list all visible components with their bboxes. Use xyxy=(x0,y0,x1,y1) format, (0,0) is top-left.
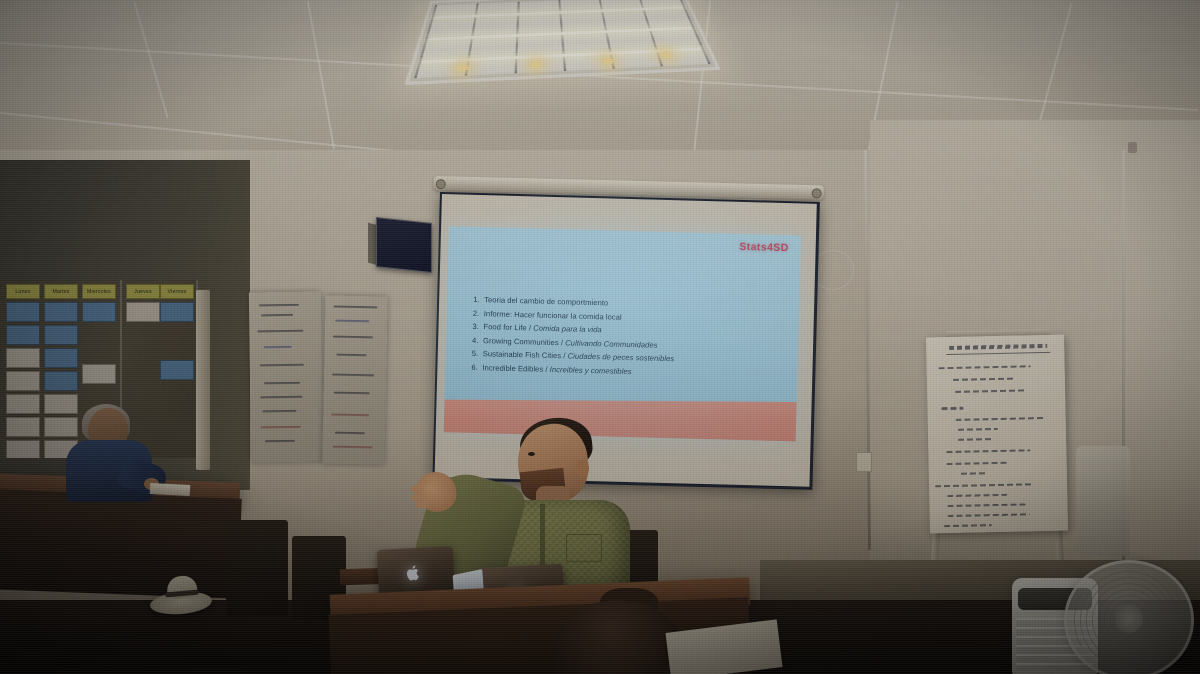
schedule-column-martes: Martes xyxy=(44,284,78,458)
day-header-jueves: Jueves xyxy=(126,284,160,299)
slide-item-text: Growing Communities / xyxy=(483,336,565,347)
pedestal-fan[interactable] xyxy=(1064,560,1194,674)
slide-item-text-es: Ciudades de peces sostenibles xyxy=(568,352,675,364)
schedule-note xyxy=(6,440,40,458)
schedule-note xyxy=(6,394,40,414)
schedule-note xyxy=(160,360,194,380)
schedule-note xyxy=(126,302,160,322)
schedule-note xyxy=(6,348,40,368)
slide-item-text: Incredible Edibles / xyxy=(482,363,550,374)
schedule-column-lunes: Lunes xyxy=(6,284,40,458)
wall-outlet-plate xyxy=(856,452,872,472)
schedule-note xyxy=(82,364,116,384)
slide-item-text-es: Increibles y comestibles xyxy=(550,365,632,376)
slide-bottom-band xyxy=(444,400,801,442)
whiteboard-frame-edge xyxy=(196,290,210,470)
slide-item-text: Sustainable Fish Cities / xyxy=(483,350,568,361)
day-header-lunes: Lunes xyxy=(6,284,40,299)
slide-item-number: 1. xyxy=(473,293,484,307)
projector-screen: Stats4SD 1.Teoria del cambio de comportm… xyxy=(432,192,819,490)
slide-item-text: Food for Life / xyxy=(483,322,533,332)
schedule-note xyxy=(160,302,194,322)
slide-item-text: Teoria del cambio de comportmiento xyxy=(484,295,608,307)
schedule-note xyxy=(44,394,78,414)
day-header-martes: Martes xyxy=(44,284,78,299)
screen-surface: Stats4SD 1.Teoria del cambio de comportm… xyxy=(435,194,817,487)
waste-bin xyxy=(1076,446,1130,556)
slide-bullet-list: 1.Teoria del cambio de comportmiento 2.I… xyxy=(471,293,789,383)
schedule-note xyxy=(44,371,78,391)
slide-item-text-es: Comida para la vida xyxy=(533,324,602,335)
left-table-body xyxy=(0,489,242,599)
schedule-note xyxy=(82,302,116,322)
day-header-viernes: Viernes xyxy=(160,284,194,299)
presenter-ear xyxy=(576,460,589,477)
wall-mounted-speaker xyxy=(376,217,432,273)
presenter-eye xyxy=(528,452,535,456)
schedule-column-jueves: Jueves xyxy=(126,284,160,322)
wall-flipchart-sheet-right xyxy=(322,295,388,464)
slide-item-number: 4. xyxy=(472,334,483,348)
smoke-detector-icon xyxy=(1128,142,1137,153)
schedule-note xyxy=(6,417,40,437)
schedule-note xyxy=(44,417,78,437)
schedule-note xyxy=(44,302,78,322)
slide-item-text-es: Cultivando Communidades xyxy=(565,338,658,349)
flipchart-pad[interactable] xyxy=(926,335,1068,534)
schedule-note xyxy=(44,325,78,345)
projected-slide: Stats4SD 1.Teoria del cambio de comportm… xyxy=(444,226,801,441)
schedule-column-miercoles: Miercoles xyxy=(82,284,116,384)
chair-left[interactable] xyxy=(226,520,288,616)
fan-hub xyxy=(1115,605,1143,633)
photo-scene: Lunes Martes Miercoles Jueves xyxy=(0,0,1200,674)
wall-flipchart-sheet-left xyxy=(249,292,323,463)
schedule-note xyxy=(44,348,78,368)
slide-item-number: 6. xyxy=(471,361,482,375)
day-header-miercoles: Miercoles xyxy=(82,284,116,299)
apple-logo-icon xyxy=(405,564,421,583)
schedule-column-viernes: Viernes xyxy=(160,284,194,380)
schedule-note xyxy=(6,371,40,391)
slide-item-number: 2. xyxy=(473,306,484,320)
slide-item-number: 5. xyxy=(472,347,483,361)
attendee-left-paper xyxy=(150,483,191,496)
slide-item-number: 3. xyxy=(472,320,483,334)
schedule-note xyxy=(6,302,40,322)
schedule-note xyxy=(6,325,40,345)
presenter-shirt-pocket xyxy=(566,534,602,562)
stats4sd-logo: Stats4SD xyxy=(739,241,789,254)
slide-item-text: Informe: Hacer funcionar la comida local xyxy=(484,309,622,322)
flipchart-heading xyxy=(946,345,1050,355)
